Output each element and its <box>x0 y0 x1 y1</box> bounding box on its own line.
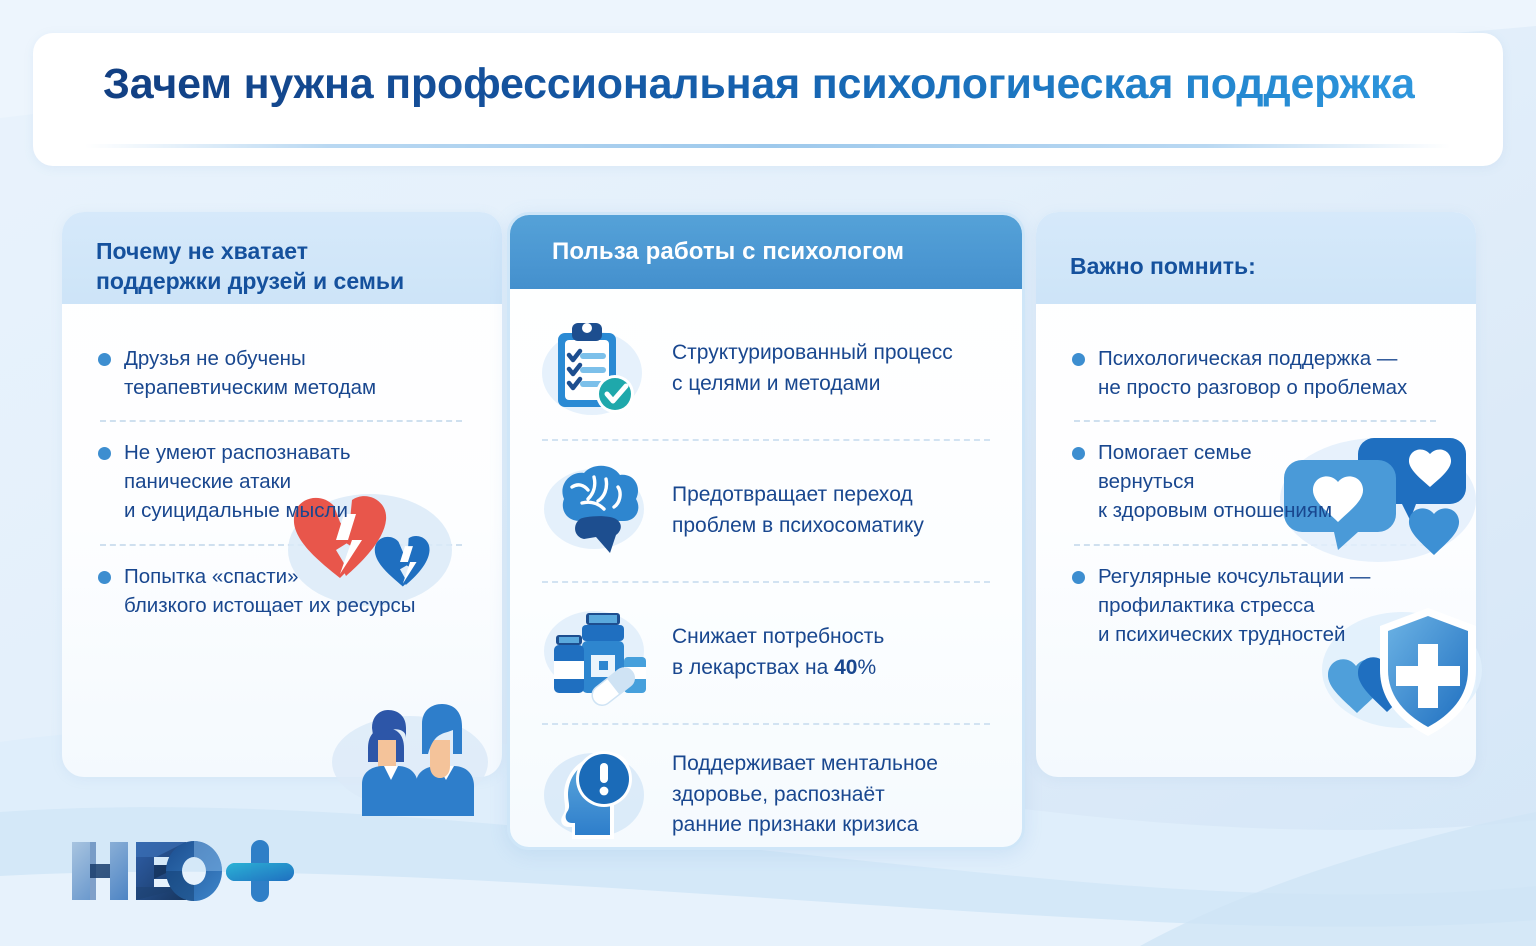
clipboard-checklist-icon <box>538 315 654 423</box>
list-item-label: Структурированный процесс с целями и мет… <box>672 338 953 399</box>
bullet-dot-icon <box>98 571 111 584</box>
column-why-friends-not-enough: Почему не хватает поддержки друзей и сем… <box>62 212 502 777</box>
column-important-to-remember: Важно помнить: Психологическая поддержка… <box>1036 212 1476 777</box>
list-item-label: Помогает семье вернуться к здоровым отно… <box>1098 438 1332 525</box>
middle-column-body: Структурированный процесс с целями и мет… <box>510 289 1022 850</box>
bullet-dot-icon <box>1072 571 1085 584</box>
left-bullet-list: Друзья не обучены терапевтическим метода… <box>62 304 502 636</box>
bullet-dot-icon <box>1072 447 1085 460</box>
left-column-header: Почему не хватает поддержки друзей и сем… <box>62 212 502 304</box>
list-item: Помогает семье вернуться к здоровым отно… <box>1062 424 1450 541</box>
right-column-header: Важно помнить: <box>1036 212 1476 304</box>
list-item: Психологическая поддержка — не просто ра… <box>1062 330 1450 418</box>
left-column-heading: Почему не хватает поддержки друзей и сем… <box>96 236 404 297</box>
bullet-dot-icon <box>98 353 111 366</box>
list-item: Регулярные кочсультации — профилактика с… <box>1062 548 1450 665</box>
left-column-body: Друзья не обучены терапевтическим метода… <box>62 304 502 636</box>
right-column-body: Психологическая поддержка — не просто ра… <box>1036 304 1476 665</box>
list-item-label: Предотвращает переход проблем в психосом… <box>672 480 924 541</box>
list-item: Предотвращает переход проблем в психосом… <box>532 441 996 581</box>
middle-feature-list: Структурированный процесс с целями и мет… <box>510 289 1022 850</box>
percent-value: 40 <box>834 656 857 679</box>
list-item: Друзья не обучены терапевтическим метода… <box>88 330 476 418</box>
list-item: Попытка «спасти» близкого истощает их ре… <box>88 548 476 636</box>
list-item: Снижает потребность в лекарствах на 40% <box>532 583 996 723</box>
list-divider <box>100 544 462 546</box>
middle-column-header: Польза работы с психологом <box>510 215 1022 289</box>
medicine-bottles-icon <box>538 599 654 707</box>
list-item: Структурированный процесс с целями и мет… <box>532 299 996 439</box>
neo-plus-logo <box>66 838 296 904</box>
list-item: Поддерживает ментальное здоровье, распоз… <box>532 725 996 850</box>
list-divider <box>1074 420 1436 422</box>
list-item-label: Психологическая поддержка — не просто ра… <box>1098 344 1407 402</box>
list-item-label: Друзья не обучены терапевтическим метода… <box>124 344 376 402</box>
page-title: Зачем нужна профессиональная психологиче… <box>103 60 1415 109</box>
infographic-canvas: Зачем нужна профессиональная психологиче… <box>0 0 1536 946</box>
header-card: Зачем нужна профессиональная психологиче… <box>33 33 1503 166</box>
middle-column-heading: Польза работы с психологом <box>552 238 904 266</box>
bullet-dot-icon <box>98 447 111 460</box>
head-exclamation-icon <box>538 741 654 849</box>
list-item: Не умеют распознавать панические атаки и… <box>88 424 476 541</box>
list-divider <box>1074 544 1436 546</box>
list-divider <box>100 420 462 422</box>
percent-sign: % <box>857 656 876 679</box>
list-item-label: Попытка «спасти» близкого истощает их ре… <box>124 562 416 620</box>
title-divider <box>85 144 1451 148</box>
right-column-heading: Важно помнить: <box>1070 251 1256 281</box>
list-item-label: Поддерживает ментальное здоровье, распоз… <box>672 749 938 841</box>
right-bullet-list: Психологическая поддержка — не просто ра… <box>1036 304 1476 665</box>
list-item-label: Регулярные кочсультации — профилактика с… <box>1098 562 1370 649</box>
bullet-dot-icon <box>1072 353 1085 366</box>
brain-icon <box>538 457 654 565</box>
list-item-label: Не умеют распознавать панические атаки и… <box>124 438 351 525</box>
column-benefits-of-psychologist: Польза работы с психологом <box>507 212 1025 850</box>
list-item-label: Снижает потребность в лекарствах на 40% <box>672 622 884 683</box>
